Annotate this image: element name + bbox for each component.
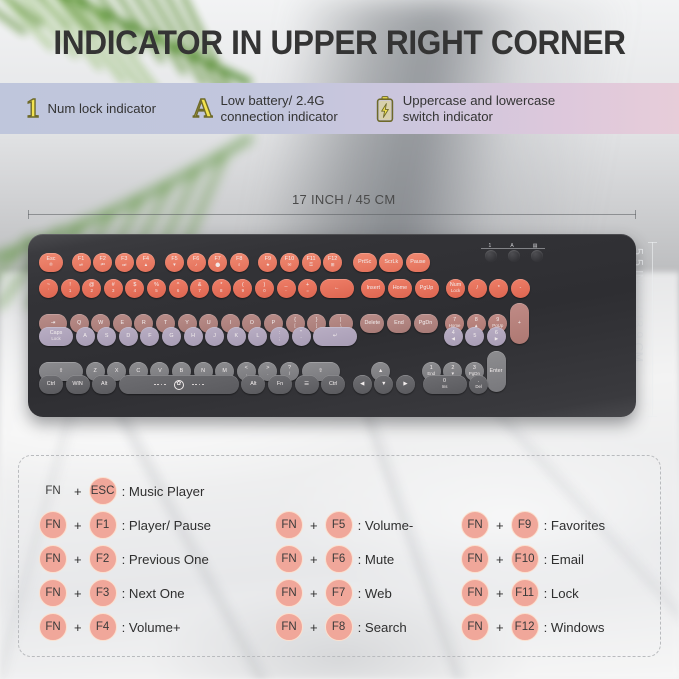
plus-separator: + — [74, 518, 82, 533]
keyboard-key-label: ⇥ — [51, 321, 56, 327]
keyboard-key: CapsLock — [39, 327, 73, 346]
keyboard-key-label: K — [234, 334, 238, 340]
keyboard-key: F7⬤ — [208, 253, 227, 272]
keyboard-key-label: Fn — [277, 382, 283, 388]
keyboard-key: ~` — [39, 279, 58, 298]
plus-separator: + — [310, 586, 318, 601]
keyboard-key-sublabel: 6 — [177, 289, 179, 293]
keyboard-key-sublabel: ▲ — [144, 263, 148, 267]
keyboard-key: A — [76, 327, 95, 346]
keyboard-key-sublabel: 4 — [134, 289, 136, 293]
keyboard-key-sublabel: 0 — [263, 289, 265, 293]
keyboard-key: PrtSc — [353, 253, 377, 272]
keyboard-key: .Del — [469, 375, 488, 394]
keyboard-key-label: PrtSc — [358, 260, 371, 266]
plus-separator: + — [496, 620, 504, 635]
fn-shortcut-label: : Lock — [544, 586, 579, 601]
keyboard-key-label: Y — [185, 321, 189, 327]
keyboard-key-label: * — [498, 286, 500, 292]
keyboard-key: PgUp — [415, 279, 439, 298]
function-key-badge: F1 — [89, 511, 117, 539]
spacebar-dot — [199, 384, 201, 386]
fn-shortcut-column-0: FN+ESC: Music PlayerFN+F1: Player/ Pause… — [39, 474, 211, 644]
keyboard-key-sublabel: Del — [475, 385, 482, 389]
keyboard-key-label: S — [105, 334, 109, 340]
plus-separator: + — [310, 518, 318, 533]
keyboard-key-label: O — [250, 321, 254, 327]
spacebar-dot — [195, 384, 197, 386]
keyboard-key-sublabel: - — [285, 289, 286, 293]
keyboard-key: / — [468, 279, 487, 298]
keyboard-key: Ctrl — [39, 375, 63, 394]
keyboard-key: F5▼ — [165, 253, 184, 272]
keyboard-key: !1 — [61, 279, 80, 298]
fn-shortcut-label: : Next One — [122, 586, 185, 601]
keyboard-key-label: A — [83, 334, 87, 340]
keyboard-key-sublabel: ✉ — [288, 263, 292, 267]
fn-shortcut-row: FN+F12: Windows — [461, 610, 605, 644]
function-key-badge: F9 — [511, 511, 539, 539]
keyboard-key-label: / — [476, 286, 478, 292]
function-key-badge: F2 — [89, 545, 117, 573]
fn-shortcut-label: : Player/ Pause — [122, 518, 211, 533]
led-battery — [531, 250, 543, 262]
fn-shortcut-row: FN+ESC: Music Player — [39, 474, 211, 508]
keyboard-key: @2 — [82, 279, 101, 298]
keyboard-key-label: G — [169, 334, 173, 340]
fn-shortcut-row: FN+F5: Volume- — [275, 508, 413, 542]
keyboard-key: :; — [270, 327, 289, 346]
fn-shortcut-row: FN+F11: Lock — [461, 576, 605, 610]
keyboard-key: ← — [320, 279, 354, 298]
dimension-width-label: 17 INCH / 45 CM — [292, 192, 395, 207]
fn-shortcut-row: FN+F8: Search — [275, 610, 413, 644]
fn-key-badge: FN — [275, 579, 303, 607]
keyboard-key: F2⏮ — [93, 253, 112, 272]
num-lock-glyph-icon: 1 — [26, 95, 40, 122]
fn-shortcut-label: : Volume+ — [122, 620, 181, 635]
keyboard-key-sublabel: 8 — [220, 289, 222, 293]
keyboard-key: F8⌕ — [230, 253, 249, 272]
keyboard-key-label: End — [394, 321, 404, 327]
spacebar-decoration: ✿ — [154, 380, 204, 390]
fn-key-badge: FN — [461, 545, 489, 573]
keyboard-key: J — [205, 327, 224, 346]
keyboard-key: F10✉ — [280, 253, 299, 272]
keyboard-key-label: F — [148, 334, 151, 340]
keyboard-key-label: Home — [393, 286, 407, 292]
function-key-badge: F8 — [325, 613, 353, 641]
fn-key-badge: FN — [39, 579, 67, 607]
keyboard-key-label: Alt — [250, 382, 256, 388]
spacebar-dot — [161, 384, 163, 386]
keyboard-key-label: B — [180, 369, 184, 375]
keyboard-key: Alt — [92, 375, 116, 394]
fn-key-badge: FN — [39, 477, 67, 505]
keyboard-key-sublabel: ▶ — [495, 337, 498, 341]
keyboard-key: $4 — [125, 279, 144, 298]
keyboard-key-label: Alt — [101, 382, 107, 388]
function-key-badge: F4 — [89, 613, 117, 641]
keyboard-key: F9★ — [258, 253, 277, 272]
fn-shortcut-label: : Web — [358, 586, 392, 601]
page-title: INDICATOR IN UPPER RIGHT CORNER — [24, 24, 655, 63]
keyboard-key-sublabel: ⬤ — [215, 263, 220, 267]
keyboard-key: &7 — [190, 279, 209, 298]
keyboard-key: Insert — [361, 279, 385, 298]
fn-key-badge: FN — [461, 613, 489, 641]
fn-key-badge: FN — [39, 613, 67, 641]
fn-key-badge: FN — [39, 545, 67, 573]
indicator-label-low-battery: Low battery/ 2.4Gconnection indicator — [220, 93, 337, 123]
keyboard-key-sublabel: 7 — [198, 289, 200, 293]
spacebar-dots — [192, 384, 204, 386]
keyboard-key: %5 — [147, 279, 166, 298]
dimension-width-line — [28, 214, 636, 215]
keyboard-key-sublabel: ⏯ — [79, 263, 83, 267]
keyboard-key: (9 — [233, 279, 252, 298]
keyboard-key: _- — [277, 279, 296, 298]
keyboard-key: S — [97, 327, 116, 346]
keyboard-key-sublabel: ⚿ — [309, 263, 312, 267]
keyboard-key: F11⚿ — [302, 253, 321, 272]
keyboard-key-sublabel: Lock — [451, 289, 460, 293]
keyboard-key-label: N — [201, 369, 205, 375]
fn-shortcut-row: FN+F6: Mute — [275, 542, 413, 576]
keyboard-key-sublabel: ® — [49, 263, 52, 267]
letter-a-glyph-icon: A — [193, 95, 213, 122]
fn-shortcut-row: FN+F4: Volume+ — [39, 610, 211, 644]
fn-shortcut-label: : Music Player — [122, 484, 205, 499]
keyboard-key: Alt — [241, 375, 265, 394]
keyboard-key-label: W — [98, 321, 103, 327]
keyboard-key-label: Ctrl — [329, 382, 337, 388]
fn-key-badge: FN — [275, 613, 303, 641]
fn-shortcut-row: FN+F7: Web — [275, 576, 413, 610]
keyboard-key: ^6 — [169, 279, 188, 298]
keyboard-key: Ctrl — [321, 375, 345, 394]
keyboard-key-label: ▼ — [381, 382, 386, 388]
fn-shortcut-label: : Mute — [358, 552, 395, 567]
keyboard-key-label: P — [272, 321, 276, 327]
keyboard-key: 5 — [465, 327, 484, 346]
keyboard-key-label: R — [142, 321, 146, 327]
keyboard-key: *8 — [212, 279, 231, 298]
keyboard-key: Esc® — [39, 253, 63, 272]
dimension-height-line — [652, 242, 653, 417]
keyboard-key-label: ☰ — [304, 382, 309, 388]
keyboard-key: 4◀ — [444, 327, 463, 346]
fn-key-badge: FN — [461, 511, 489, 539]
fn-shortcuts-panel: FN+ESC: Music PlayerFN+F1: Player/ Pause… — [18, 455, 661, 657]
keyboard-key-sublabel: ⏮ — [101, 263, 105, 267]
battery-icon — [376, 96, 394, 122]
keyboard-key: L — [248, 327, 267, 346]
spacebar-dot — [202, 384, 204, 386]
spacebar-dot — [164, 384, 166, 386]
keyboard-key-label: Z — [93, 369, 96, 375]
function-key-badge: F3 — [89, 579, 117, 607]
indicator-item-low-battery: A Low battery/ 2.4Gconnection indicator — [193, 93, 338, 123]
plus-separator: + — [310, 552, 318, 567]
spacebar-dot — [154, 384, 156, 386]
function-key-badge: ESC — [89, 477, 117, 505]
fn-key-badge: FN — [275, 511, 303, 539]
fn-shortcut-column-1: FN+F5: Volume-FN+F6: MuteFN+F7: WebFN+F8… — [275, 508, 413, 644]
keyboard-key-sublabel: ⏭ — [122, 263, 126, 267]
keyboard-key-label: C — [136, 369, 140, 375]
plus-separator: + — [496, 586, 504, 601]
keyboard-key-label: ScrLk — [384, 260, 398, 266]
keyboard-key-label: 5 — [473, 334, 476, 340]
keyboard-key-label: V — [158, 369, 162, 375]
keyboard-key: ☰ — [295, 375, 319, 394]
keyboard-key-sublabel: ` — [48, 289, 49, 293]
keyboard-key-sublabel: 3 — [112, 289, 114, 293]
keyboard-key-label: Enter — [490, 369, 503, 375]
keyboard-key: NumLock — [446, 279, 465, 298]
keyboard-key: ↵ — [313, 327, 357, 346]
keyboard-row-1: ~`!1@2#3$4%5^6&7*8(9)0_-+=←InsertHomePgU… — [39, 279, 532, 298]
keyboard-key-sublabel: = — [306, 289, 309, 293]
fn-shortcut-label: : Volume- — [358, 518, 414, 533]
keyboard-key: + — [510, 303, 529, 344]
keyboard-key-sublabel: ' — [301, 337, 302, 341]
plus-separator: + — [74, 552, 82, 567]
keyboard-key-label: ⇧ — [318, 369, 323, 375]
keyboard-key-label: U — [207, 321, 211, 327]
indicator-label-num-lock: Num lock indicator — [48, 101, 156, 116]
keyboard-key-label: E — [120, 321, 124, 327]
keyboard-key: ▶ — [396, 375, 415, 394]
keyboard-key: K — [227, 327, 246, 346]
keyboard-key-label: WIN — [72, 382, 82, 388]
keyboard-key-sublabel: 2 — [90, 289, 92, 293]
fn-key-badge: FN — [461, 579, 489, 607]
indicator-legend-bar: 1 Num lock indicator A Low battery/ 2.4G… — [0, 83, 679, 134]
function-key-badge: F11 — [511, 579, 539, 607]
keyboard-key: H — [184, 327, 203, 346]
led-num-lock — [485, 250, 497, 262]
keyboard-key-label: Insert — [367, 286, 380, 292]
keyboard-key-sublabel: ★ — [266, 263, 270, 267]
keyboard-key: ScrLk — [379, 253, 403, 272]
keyboard-key-area: 1A▤ Esc®F1⏯F2⏮F3⏭F4▲F5▼F6♪F7⬤F8⌕F9★F10✉F… — [37, 244, 627, 408]
keyboard-key: F3⏭ — [115, 253, 134, 272]
keyboard-key-label: J — [213, 334, 216, 340]
keyboard-key-label: Pause — [410, 260, 425, 266]
keyboard-key-label: H — [191, 334, 195, 340]
keyboard-key: )0 — [255, 279, 274, 298]
fn-shortcut-label: : Favorites — [544, 518, 606, 533]
keyboard-row-0: Esc®F1⏯F2⏮F3⏭F4▲F5▼F6♪F7⬤F8⌕F9★F10✉F11⚿F… — [39, 253, 433, 272]
keyboard-key: G — [162, 327, 181, 346]
plus-separator: + — [496, 518, 504, 533]
keyboard-row-3: CapsLockASDFGHJKL:;"'↵4◀56▶ — [39, 327, 509, 346]
brand-logo-icon: ✿ — [174, 380, 184, 390]
keyboard-key-sublabel: ◀ — [452, 337, 455, 341]
keyboard-led-divider — [481, 248, 545, 249]
keyboard-key: ▼ — [374, 375, 393, 394]
spacebar-dot — [192, 384, 194, 386]
function-key-badge: F7 — [325, 579, 353, 607]
fn-shortcut-row: FN+F1: Player/ Pause — [39, 508, 211, 542]
keyboard-key: - — [511, 279, 530, 298]
keyboard-key-label: X — [115, 369, 119, 375]
keyboard-product-image: 1A▤ Esc®F1⏯F2⏮F3⏭F4▲F5▼F6♪F7⬤F8⌕F9★F10✉F… — [28, 234, 636, 417]
function-key-badge: F10 — [511, 545, 539, 573]
indicator-item-case-switch: Uppercase and lowercaseswitch indicator — [376, 93, 555, 123]
keyboard-key-label: D — [126, 334, 130, 340]
keyboard-key-sublabel: 9 — [242, 289, 244, 293]
spacebar-dot — [157, 384, 159, 386]
plus-separator: + — [310, 620, 318, 635]
fn-key-badge: FN — [39, 511, 67, 539]
keyboard-key: += — [298, 279, 317, 298]
keyboard-row-5: CtrlWINAlt✿AltFn☰Ctrl◀▼▶0Ins.Del — [39, 375, 491, 394]
spacebar-dots — [154, 384, 166, 386]
keyboard-key-sublabel: 1 — [69, 289, 71, 293]
fn-shortcut-row: FN+F2: Previous One — [39, 542, 211, 576]
keyboard-key-label: PgDn — [419, 321, 433, 327]
fn-shortcut-row: FN+F10: Email — [461, 542, 605, 576]
plus-separator: + — [496, 552, 504, 567]
indicator-item-num-lock: 1 Num lock indicator — [26, 95, 156, 122]
indicator-label-case-switch: Uppercase and lowercaseswitch indicator — [403, 93, 555, 123]
keyboard-key-sublabel: ▼ — [172, 263, 176, 267]
fn-shortcut-row: FN+F9: Favorites — [461, 508, 605, 542]
keyboard-key-label: ⇧ — [59, 369, 64, 375]
keyboard-key-sublabel: ♪ — [195, 263, 197, 267]
keyboard-key: Fn — [268, 375, 292, 394]
keyboard-key: * — [489, 279, 508, 298]
keyboard-key-label: ◀ — [360, 382, 364, 388]
keyboard-key: ◀ — [353, 375, 372, 394]
keyboard-key-label: L — [256, 334, 259, 340]
keyboard-key: D — [119, 327, 138, 346]
plus-separator: + — [74, 586, 82, 601]
keyboard-key: F — [140, 327, 159, 346]
keyboard-key-label: Q — [77, 321, 81, 327]
keyboard-key: F6♪ — [187, 253, 206, 272]
keyboard-key-label: + — [518, 321, 521, 327]
keyboard-key-sublabel: Lock — [51, 337, 60, 341]
fn-shortcut-label: : Search — [358, 620, 407, 635]
keyboard-key-label: T — [164, 321, 167, 327]
keyboard-key: Pause — [406, 253, 430, 272]
keyboard-key-label: ▲ — [378, 369, 383, 375]
keyboard-key: 0Ins — [423, 375, 467, 394]
keyboard-key: #3 — [104, 279, 123, 298]
keyboard-key: ✿ — [119, 375, 239, 394]
function-key-badge: F6 — [325, 545, 353, 573]
function-key-badge: F12 — [511, 613, 539, 641]
keyboard-key-sublabel: ⊞ — [331, 263, 335, 267]
fn-shortcut-label: : Previous One — [122, 552, 209, 567]
plus-separator: + — [74, 484, 82, 499]
keyboard-key: WIN — [66, 375, 90, 394]
keyboard-key: F4▲ — [136, 253, 155, 272]
keyboard-key-sublabel: Ins — [442, 385, 448, 389]
keyboard-key-label: ↵ — [333, 334, 338, 340]
keyboard-key-label: - — [519, 286, 521, 292]
keyboard-key: 6▶ — [487, 327, 506, 346]
keyboard-indicator-leds — [485, 250, 543, 262]
fn-shortcut-column-2: FN+F9: FavoritesFN+F10: EmailFN+F11: Loc… — [461, 508, 605, 644]
fn-shortcut-row: FN+F3: Next One — [39, 576, 211, 610]
keyboard-key-label: PgUp — [420, 286, 434, 292]
keyboard-key-sublabel: 5 — [155, 289, 157, 293]
keyboard-key-sublabel: ⌕ — [238, 263, 240, 267]
keyboard-key: "' — [292, 327, 311, 346]
fn-key-badge: FN — [275, 545, 303, 573]
keyboard-key-label: Ctrl — [47, 382, 55, 388]
plus-separator: + — [74, 620, 82, 635]
keyboard-key-label: M — [222, 369, 227, 375]
keyboard-key-label: ▶ — [403, 382, 407, 388]
keyboard-key-label: Delete — [365, 321, 381, 327]
function-key-badge: F5 — [325, 511, 353, 539]
fn-shortcut-label: : Email — [544, 552, 584, 567]
keyboard-key-label: ← — [334, 286, 339, 292]
keyboard-key-sublabel: ; — [279, 337, 280, 341]
keyboard-key-label: I — [230, 321, 232, 327]
fn-shortcut-label: : Windows — [544, 620, 605, 635]
keyboard-key: F1⏯ — [72, 253, 91, 272]
keyboard-key: F12⊞ — [323, 253, 342, 272]
led-caps-lock — [508, 250, 520, 262]
keyboard-key: Home — [388, 279, 412, 298]
